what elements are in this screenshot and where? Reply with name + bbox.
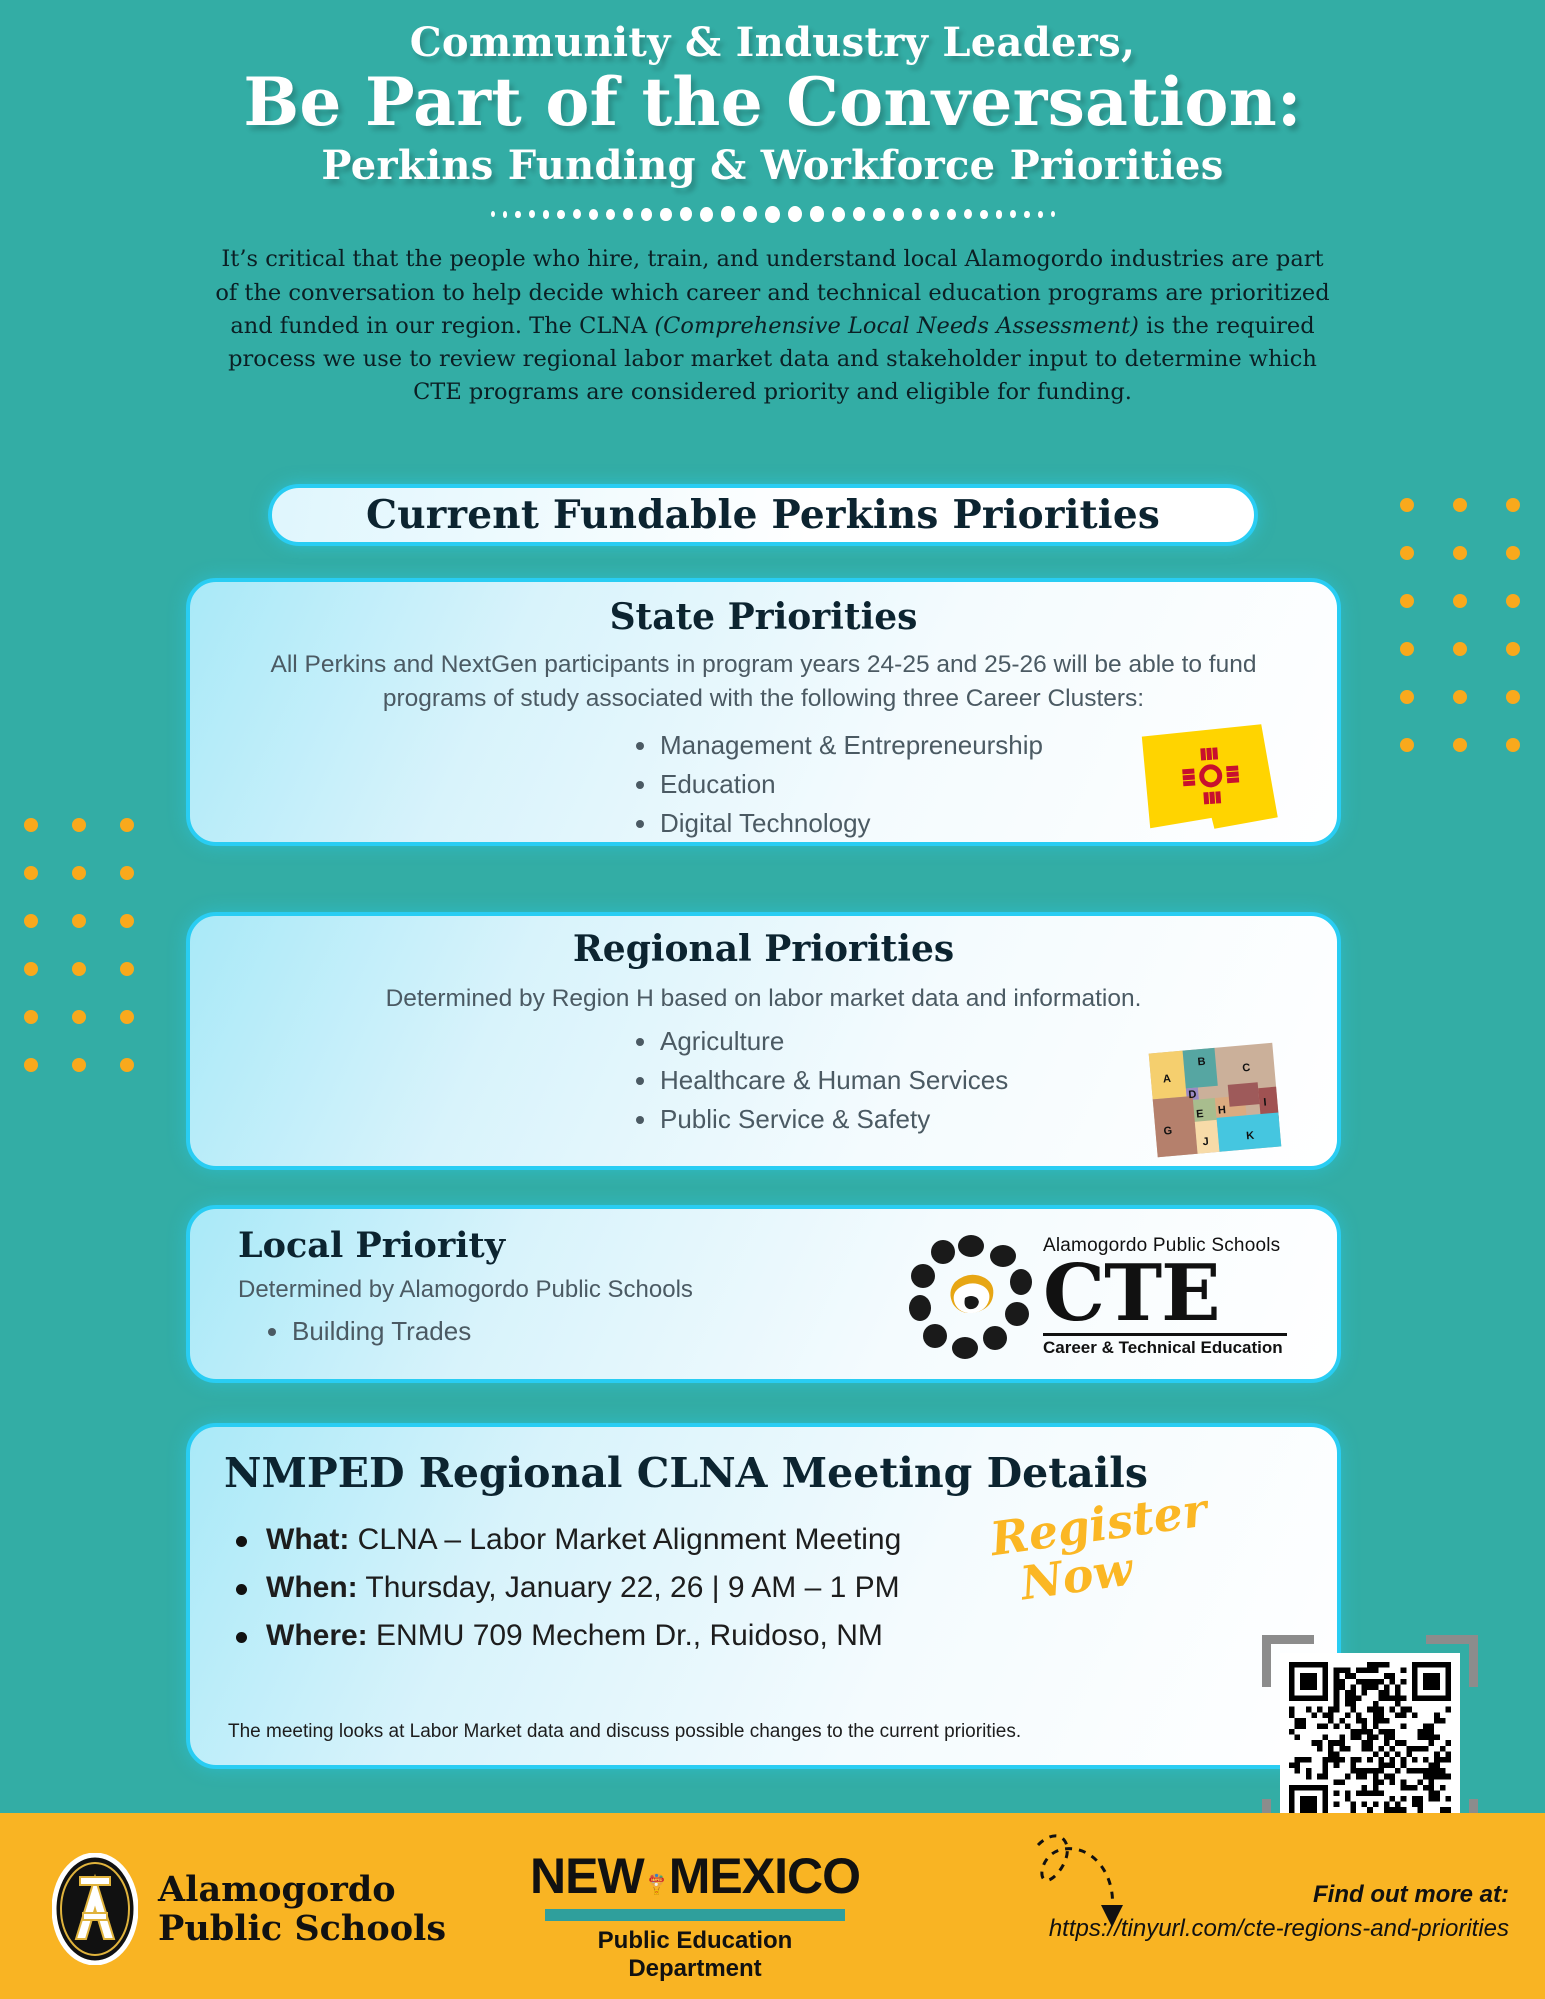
- qr-image[interactable]: [1280, 1653, 1460, 1833]
- decorative-dot: [24, 1058, 38, 1072]
- divider-dot: [503, 211, 508, 218]
- aps-cte-logo: Alamogordo Public Schools CTE Career & T…: [907, 1221, 1297, 1371]
- divider-dot: [853, 207, 865, 221]
- meeting-detail-row: Where: ENMU 709 Mechem Dr., Ruidoso, NM: [228, 1619, 1337, 1653]
- meeting-detail-label: When:: [266, 1571, 358, 1604]
- decorative-dot: [1453, 546, 1467, 560]
- decorative-dot: [1400, 498, 1414, 512]
- new-mexico-regions-map: ABC DEG HIJ K: [1144, 1038, 1285, 1161]
- decorative-dot: [1506, 498, 1520, 512]
- header-line-1: Community & Industry Leaders,: [0, 22, 1545, 64]
- intro-emphasis: (Comprehensive Local Needs Assessment): [654, 313, 1139, 339]
- dot-divider: [403, 201, 1143, 227]
- decorative-dot: [1400, 642, 1414, 656]
- local-priority-card: Local Priority Determined by Alamogordo …: [186, 1205, 1341, 1383]
- decorative-dot: [24, 818, 38, 832]
- poster-header: Community & Industry Leaders, Be Part of…: [0, 0, 1545, 227]
- find-more-url[interactable]: https://tinyurl.com/cte-regions-and-prio…: [1049, 1915, 1509, 1943]
- decorative-dot: [120, 818, 134, 832]
- divider-dot: [930, 209, 940, 221]
- regional-priorities-title: Regional Priorities: [190, 916, 1337, 970]
- cte-cluster-ring-icon: [907, 1232, 1035, 1360]
- decorative-dot: [1453, 738, 1467, 752]
- decorative-dot: [1506, 594, 1520, 608]
- svg-text:K: K: [1246, 1130, 1255, 1143]
- divider-dot: [743, 206, 757, 222]
- decorative-dot: [1400, 546, 1414, 560]
- divider-dot: [680, 207, 692, 221]
- divider-dot: [557, 210, 564, 219]
- new-mexico-state-flag-icon: [1135, 721, 1282, 839]
- decorative-dot: [120, 962, 134, 976]
- decorative-dot: [24, 914, 38, 928]
- nmped-word-mexico: MEXICO: [669, 1847, 860, 1905]
- nmped-logo: NEW NMPED MEXICO Public Education Depart…: [530, 1847, 860, 1983]
- divider-dot: [832, 207, 845, 222]
- divider-dot: [660, 208, 672, 222]
- state-priorities-subtitle: All Perkins and NextGen participants in …: [190, 648, 1337, 716]
- meeting-detail-label: What:: [266, 1523, 349, 1556]
- decorative-dot: [120, 1010, 134, 1024]
- decorative-dot: [1506, 690, 1520, 704]
- divider-dot: [606, 209, 616, 221]
- decorative-dot: [1400, 690, 1414, 704]
- decorative-dot: [24, 866, 38, 880]
- intro-paragraph: It’s critical that the people who hire, …: [213, 243, 1333, 409]
- divider-dot: [491, 211, 495, 217]
- state-priorities-card: State Priorities All Perkins and NextGen…: [186, 578, 1341, 846]
- divider-dot: [996, 210, 1003, 219]
- meeting-note: The meeting looks at Labor Market data a…: [228, 1721, 1021, 1743]
- decorative-dot: [72, 914, 86, 928]
- divider-dot: [893, 208, 904, 221]
- divider-dot: [1051, 211, 1055, 217]
- divider-dot: [700, 207, 713, 222]
- decorative-dot: [72, 1058, 86, 1072]
- state-priorities-title: State Priorities: [190, 582, 1337, 638]
- decorative-dot: [24, 962, 38, 976]
- nmped-wordmark: NEW NMPED MEXICO: [530, 1847, 860, 1905]
- divider-dot: [1024, 211, 1029, 218]
- aps-seal-icon: [52, 1853, 138, 1965]
- svg-text:NMPED: NMPED: [651, 1878, 663, 1882]
- decorative-dot: [1506, 738, 1520, 752]
- decorative-dot: [1453, 594, 1467, 608]
- header-line-3: Perkins Funding & Workforce Priorities: [0, 145, 1545, 187]
- svg-text:G: G: [1163, 1125, 1173, 1138]
- nmped-department: Public Education Department: [530, 1927, 860, 1983]
- decorative-dot: [24, 1010, 38, 1024]
- find-more-label: Find out more at:: [1049, 1881, 1509, 1909]
- divider-dot: [623, 208, 633, 220]
- svg-text:A: A: [1162, 1073, 1171, 1086]
- divider-dot: [980, 210, 987, 219]
- divider-dot: [721, 206, 735, 222]
- banner-label: Current Fundable Perkins Priorities: [366, 492, 1160, 538]
- cte-bottom-line: Career & Technical Education: [1043, 1339, 1287, 1356]
- divider-dot: [810, 206, 824, 222]
- poster-page: Community & Industry Leaders, Be Part of…: [0, 0, 1545, 1999]
- svg-text:J: J: [1202, 1136, 1209, 1148]
- decorative-dot: [1400, 594, 1414, 608]
- divider-dot: [1010, 210, 1016, 218]
- svg-text:E: E: [1196, 1108, 1204, 1121]
- meeting-detail-value: CLNA – Labor Market Alignment Meeting: [349, 1523, 901, 1556]
- meeting-detail-value: ENMU 709 Mechem Dr., Ruidoso, NM: [368, 1619, 883, 1652]
- decorative-dot: [120, 1058, 134, 1072]
- header-line-2: Be Part of the Conversation:: [0, 68, 1545, 137]
- dot-grid-right: [1400, 498, 1545, 786]
- alamogordo-public-schools-logo: Alamogordo Public Schools: [52, 1853, 446, 1965]
- divider-dot: [947, 209, 956, 220]
- nmped-word-new: NEW: [530, 1847, 644, 1905]
- divider-dot: [912, 208, 922, 220]
- meeting-details-card: NMPED Regional CLNA Meeting Details What…: [186, 1423, 1341, 1769]
- decorative-dot: [1506, 642, 1520, 656]
- find-out-more-block: Find out more at: https://tinyurl.com/ct…: [1049, 1881, 1509, 1943]
- cte-wordmark: CTE: [1043, 1257, 1287, 1330]
- nmped-balloon-icon: NMPED: [648, 1849, 665, 1919]
- decorative-dot: [72, 818, 86, 832]
- decorative-dot: [1453, 498, 1467, 512]
- aps-wordmark: Alamogordo Public Schools: [158, 1870, 446, 1948]
- decorative-dot: [72, 866, 86, 880]
- meeting-detail-value: Thursday, January 22, 26 | 9 AM – 1 PM: [358, 1571, 900, 1604]
- svg-text:H: H: [1217, 1104, 1226, 1117]
- divider-dot: [515, 211, 520, 218]
- regional-priorities-card: Regional Priorities Determined by Region…: [186, 912, 1341, 1170]
- fundable-priorities-banner: Current Fundable Perkins Priorities: [268, 484, 1258, 546]
- divider-dot: [543, 210, 550, 219]
- divider-dot: [1038, 211, 1043, 218]
- divider-dot: [529, 210, 535, 218]
- decorative-dot: [120, 914, 134, 928]
- decorative-dot: [72, 1010, 86, 1024]
- divider-dot: [873, 208, 885, 222]
- regional-priorities-subtitle: Determined by Region H based on labor ma…: [190, 982, 1337, 1016]
- svg-text:D: D: [1188, 1089, 1197, 1102]
- decorative-dot: [1400, 738, 1414, 752]
- aps-line-2: Public Schools: [158, 1909, 446, 1948]
- decorative-dot: [1506, 546, 1520, 560]
- aps-line-1: Alamogordo: [158, 1870, 446, 1909]
- dot-grid-left: [24, 818, 168, 1106]
- poster-footer: Alamogordo Public Schools NEW NMPED: [0, 1813, 1545, 1999]
- divider-dot: [573, 209, 581, 219]
- divider-dot: [589, 209, 598, 220]
- decorative-dot: [1453, 690, 1467, 704]
- divider-dot: [765, 206, 780, 223]
- divider-dot: [964, 209, 972, 219]
- decorative-dot: [72, 962, 86, 976]
- qr-matrix: [1289, 1662, 1451, 1824]
- svg-text:C: C: [1242, 1062, 1251, 1075]
- meeting-detail-label: Where:: [266, 1619, 368, 1652]
- nmped-rule: [545, 1909, 845, 1921]
- divider-dot: [641, 208, 652, 221]
- decorative-dot: [120, 866, 134, 880]
- svg-text:B: B: [1197, 1056, 1206, 1069]
- divider-dot: [788, 206, 802, 222]
- decorative-dot: [1453, 642, 1467, 656]
